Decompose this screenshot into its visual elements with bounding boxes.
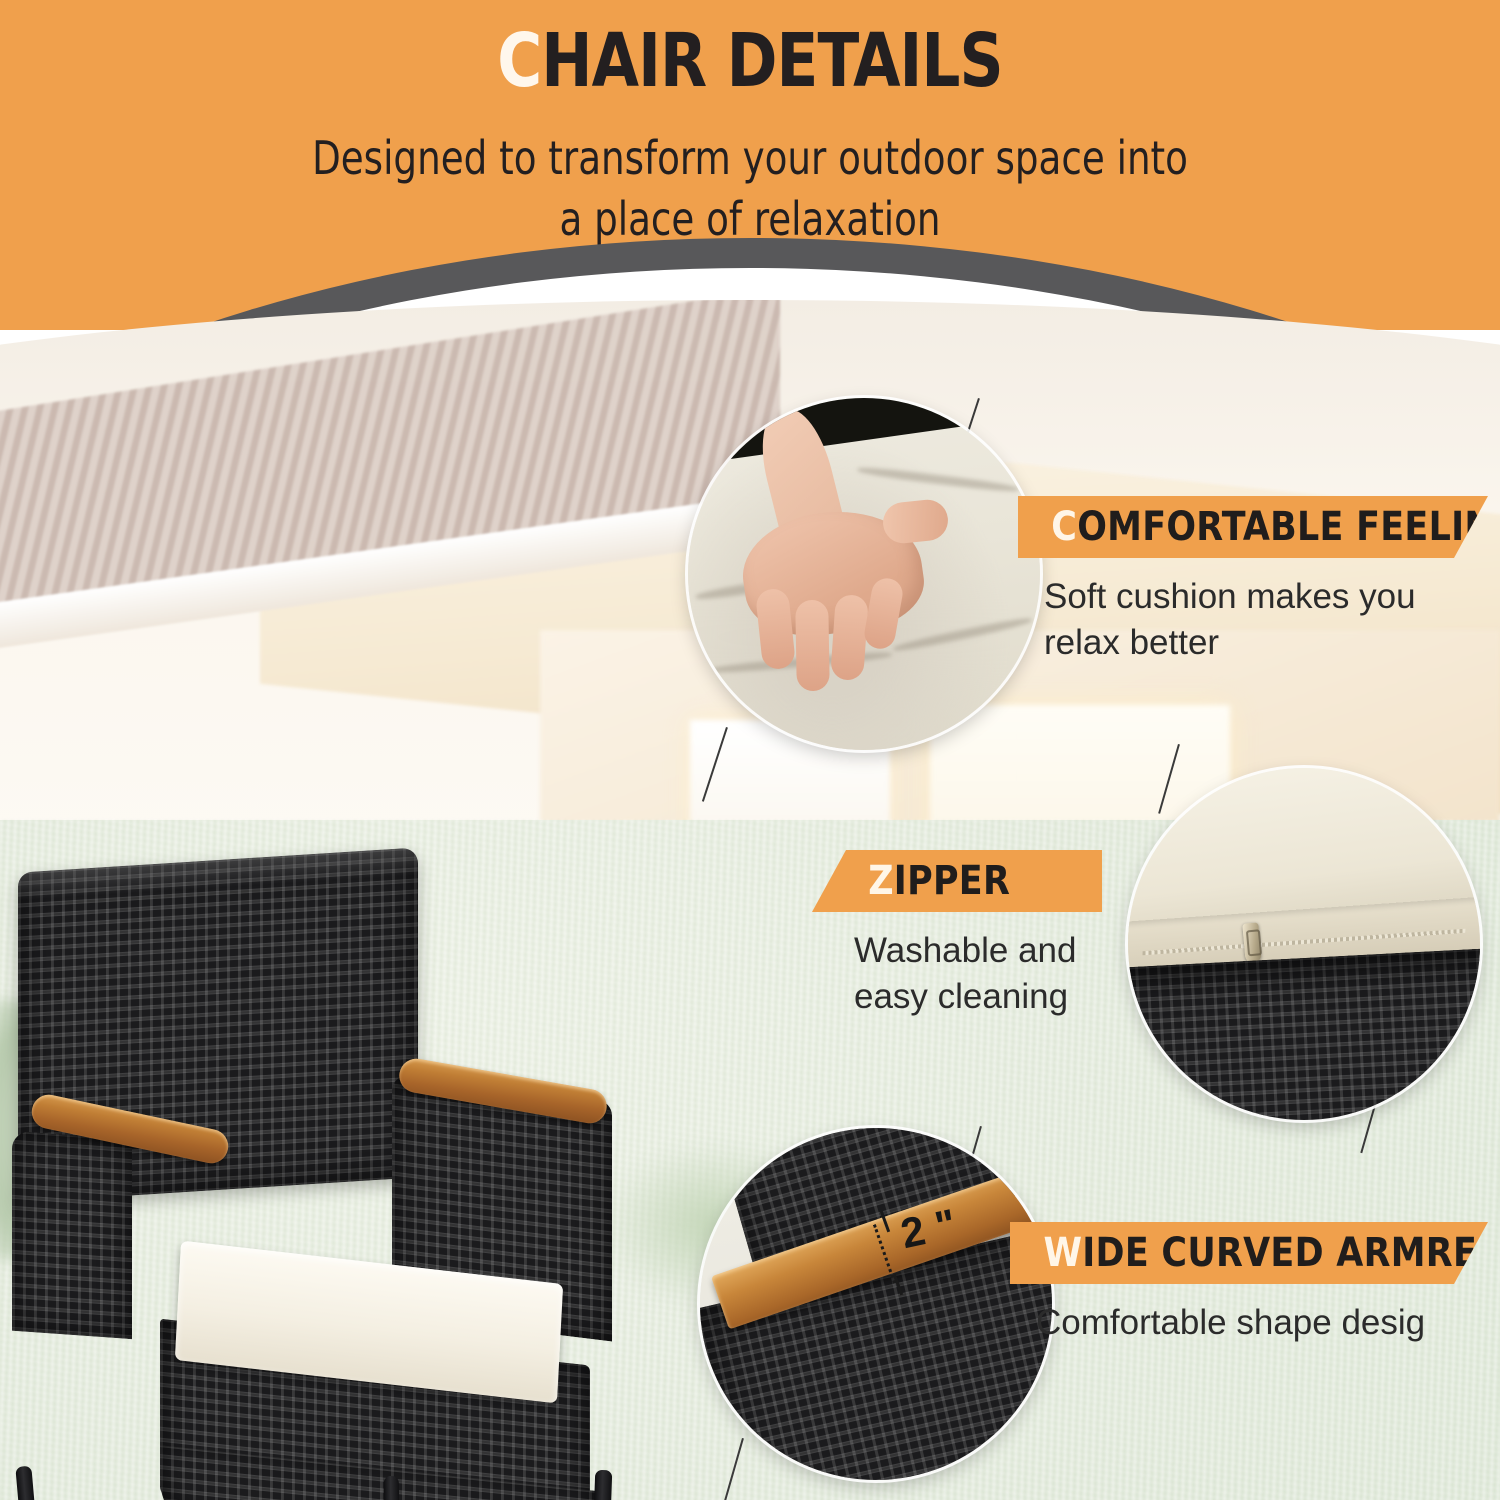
callout-banner-zipper: ZIPPER — [812, 850, 1102, 912]
callout-label-rest: IPPER — [894, 858, 1010, 904]
detail-photo-comfortable-feeling — [688, 398, 1040, 750]
callout-description-zipper: Washable and easy cleaning — [812, 928, 1102, 1019]
detail-photo-zipper — [1128, 768, 1480, 1120]
finger — [795, 600, 829, 691]
callout-label-zipper: ZIPPER — [868, 858, 1010, 904]
callout-comfortable-feeling: COMFORTABLE FEELING Soft cushion makes y… — [1018, 496, 1488, 665]
callout-lead-letter: Z — [868, 858, 894, 904]
callout-banner-wide-curved-armrest: WIDE CURVED ARMREST — [1010, 1222, 1488, 1284]
callout-label-wide-curved-armrest: WIDE CURVED ARMREST — [1043, 1230, 1500, 1276]
detail-photo-armrest: 2 " — [700, 1128, 1052, 1480]
thumb — [881, 498, 950, 546]
callout-lead-letter: W — [1043, 1230, 1082, 1276]
title-lead-letter: C — [497, 18, 541, 104]
callout-description-comfortable-feeling: Soft cushion makes you relax better — [1018, 574, 1488, 665]
page-title: CHAIR DETAILS — [60, 24, 1440, 98]
callout-zipper: ZIPPER Washable and easy cleaning — [812, 850, 1102, 1019]
finger — [830, 594, 869, 681]
callout-label-comfortable-feeling: COMFORTABLE FEELING — [1051, 504, 1500, 550]
chair-details-infographic: CHAIR DETAILS Designed to transform your… — [0, 0, 1500, 1500]
subtitle-line-1: Designed to transform your outdoor space… — [75, 128, 1425, 189]
hand-pressing-cushion — [730, 419, 948, 694]
callout-label-rest: IDE CURVED ARMREST — [1082, 1230, 1500, 1276]
rattan-weave — [1128, 948, 1480, 1120]
callout-label-rest: OMFORTABLE FEELING — [1077, 504, 1500, 550]
page-subtitle: Designed to transform your outdoor space… — [75, 128, 1425, 249]
callout-lead-letter: C — [1051, 504, 1077, 550]
hero-chair — [0, 830, 660, 1500]
title-rest: HAIR DETAILS — [541, 18, 1002, 104]
chair-leg-front-left — [15, 1466, 48, 1500]
callout-description-wide-curved-armrest: Comfortable shape desig — [1010, 1300, 1488, 1346]
callout-wide-curved-armrest: WIDE CURVED ARMREST Comfortable shape de… — [1010, 1222, 1488, 1346]
callout-banner-comfortable-feeling: COMFORTABLE FEELING — [1018, 496, 1488, 558]
chair-arm-left-panel — [12, 1131, 132, 1339]
